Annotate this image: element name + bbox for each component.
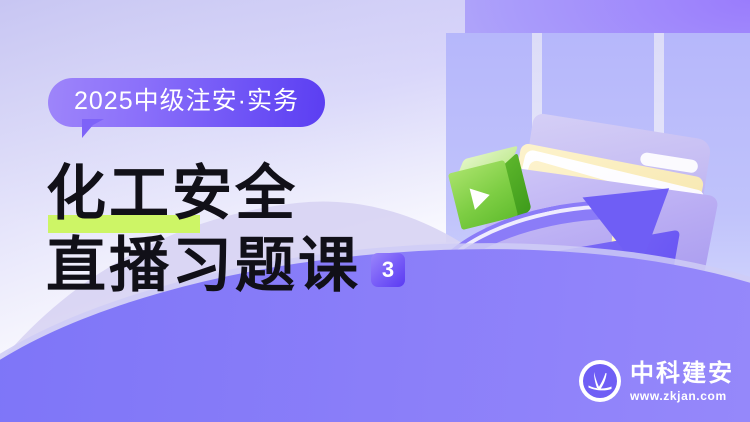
brand-name: 中科建安 (630, 361, 734, 385)
title-line-1-text: 化工安全 (46, 159, 298, 229)
episode-number-badge: 3 (371, 253, 405, 287)
zkjan-circle-logo-icon (579, 360, 621, 402)
title-line-2-text: 直播习题课 (46, 230, 361, 302)
eyebrow-pill-wrapper: 2025中级注安·实务 (48, 78, 325, 127)
title-line-1: 化工安全 (46, 158, 405, 230)
page-title: 化工安全 直播习题课 3 (46, 158, 405, 302)
course-banner: 2025中级注安·实务 化工安全 直播习题课 3 中科建安 www.zkjan.… (0, 0, 750, 422)
brand-logo-text: 中科建安 www.zkjan.com (630, 361, 734, 402)
title-line-2: 直播习题课 3 (46, 230, 405, 302)
brand-logo[interactable]: 中科建安 www.zkjan.com (579, 360, 734, 402)
pill-tail (82, 119, 104, 138)
brand-url: www.zkjan.com (630, 390, 734, 402)
